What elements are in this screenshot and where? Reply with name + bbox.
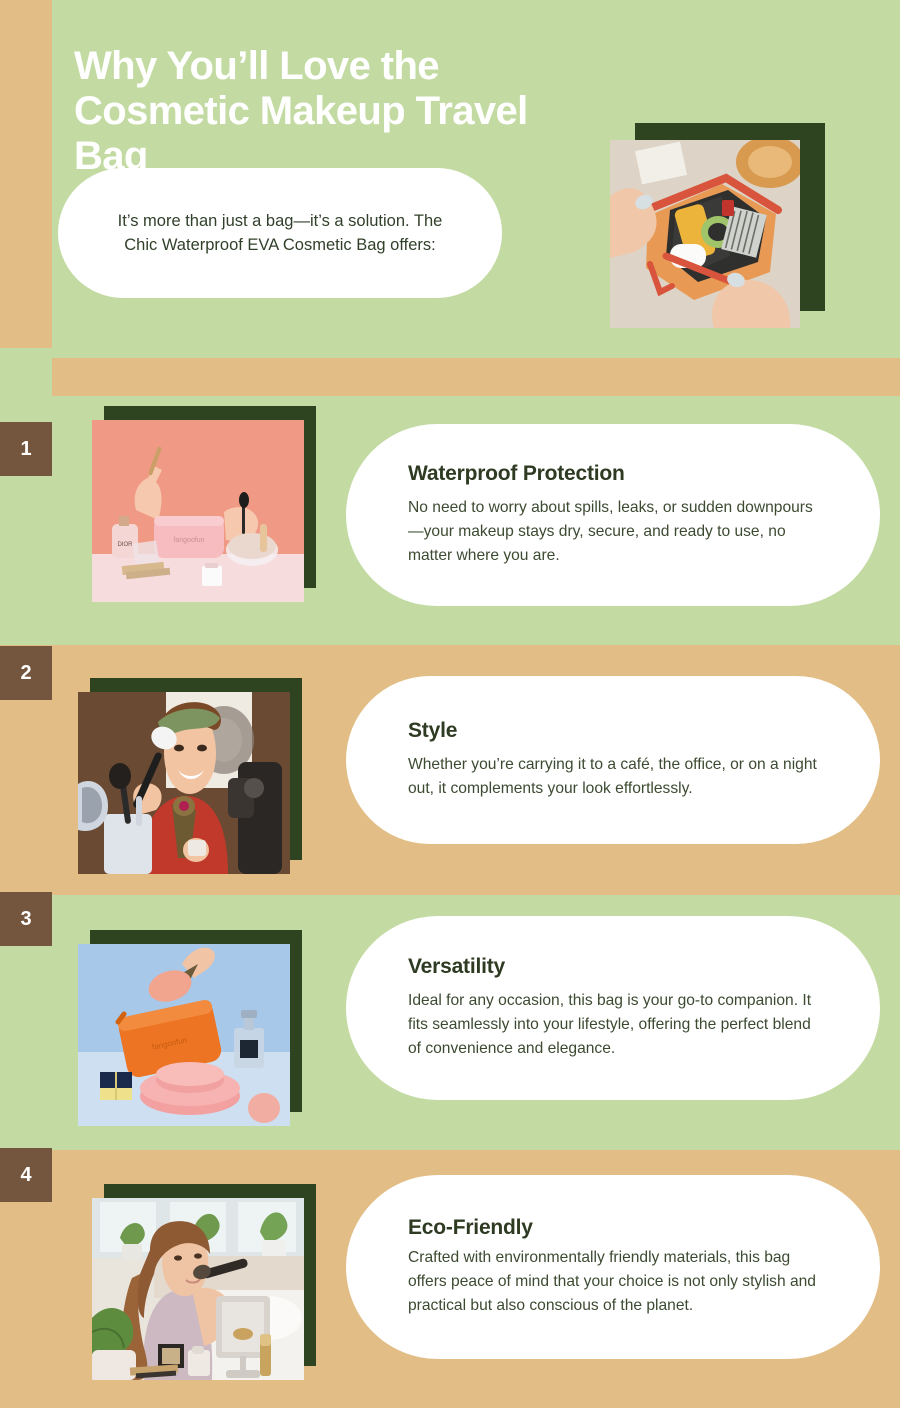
feature-heading-3: Versatility bbox=[408, 955, 818, 979]
feature-card-3: Versatility Ideal for any occasion, this… bbox=[346, 916, 880, 1100]
svg-text:DIOR: DIOR bbox=[118, 542, 134, 548]
page-title: Why You’ll Love the Cosmetic Makeup Trav… bbox=[74, 44, 594, 178]
intro-pill: It’s more than just a bag—it’s a solutio… bbox=[58, 168, 502, 298]
infographic-page: Why You’ll Love the Cosmetic Makeup Trav… bbox=[0, 0, 900, 1408]
section-photo-4 bbox=[92, 1198, 304, 1380]
section-photo-3: fangoofun bbox=[78, 944, 290, 1126]
section-photo-2 bbox=[78, 692, 290, 874]
section-number-badge-2: 2 bbox=[0, 646, 52, 700]
section-image-frame-1: fangoofun DIOR bbox=[92, 420, 304, 602]
feature-body-4: Crafted with environmentally friendly ma… bbox=[408, 1246, 818, 1318]
feature-heading-1: Waterproof Protection bbox=[408, 462, 818, 486]
svg-text:fangoofun: fangoofun bbox=[173, 537, 204, 544]
hero-image-frame bbox=[610, 140, 800, 328]
feature-body-2: Whether you’re carrying it to a café, th… bbox=[408, 753, 818, 801]
feature-body-1: No need to worry about spills, leaks, or… bbox=[408, 496, 818, 568]
feature-card-1: Waterproof Protection No need to worry a… bbox=[346, 424, 880, 606]
feature-card-4: Eco-Friendly Crafted with environmentall… bbox=[346, 1175, 880, 1359]
section-number-badge-4: 4 bbox=[0, 1148, 52, 1202]
section-image-frame-3: fangoofun bbox=[78, 944, 290, 1126]
left-accent-strip bbox=[0, 0, 52, 348]
section-number-badge-3: 3 bbox=[0, 892, 52, 946]
section-image-frame-4 bbox=[92, 1198, 304, 1380]
section-photo-1: fangoofun DIOR bbox=[92, 420, 304, 602]
hero-photo bbox=[610, 140, 800, 328]
header-divider-bar bbox=[52, 358, 900, 396]
feature-heading-4: Eco-Friendly bbox=[408, 1216, 818, 1240]
intro-text: It’s more than just a bag—it’s a solutio… bbox=[58, 209, 502, 258]
section-image-frame-2 bbox=[78, 692, 290, 874]
section-number-badge-1: 1 bbox=[0, 422, 52, 476]
feature-heading-2: Style bbox=[408, 719, 818, 743]
feature-body-3: Ideal for any occasion, this bag is your… bbox=[408, 989, 818, 1061]
feature-card-2: Style Whether you’re carrying it to a ca… bbox=[346, 676, 880, 844]
